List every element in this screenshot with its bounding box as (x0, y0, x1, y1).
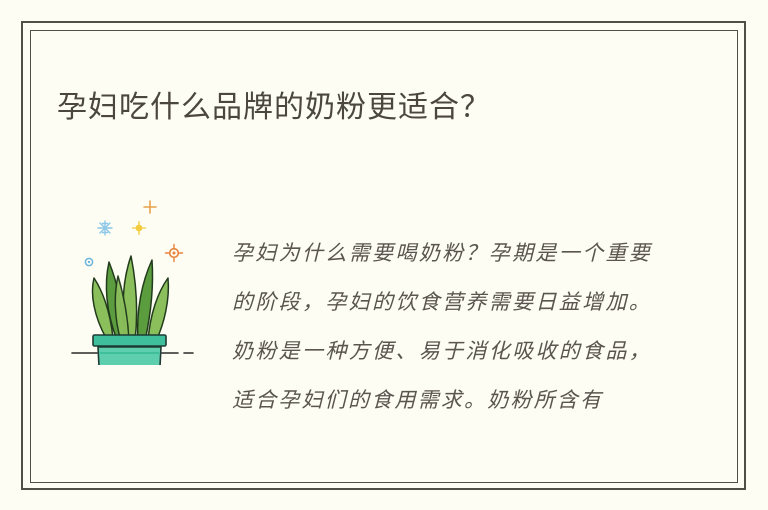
yellow-dot-sparkle (133, 222, 146, 235)
page-title: 孕妇吃什么品牌的奶粉更适合？ (57, 87, 697, 129)
snowflake-sparkle (98, 221, 112, 235)
orange-ring-sparkle (166, 245, 183, 262)
illustration-potted-plant (60, 190, 205, 365)
blue-ring-sparkle (85, 258, 92, 265)
article-card: 孕妇吃什么品牌的奶粉更适合？ (0, 0, 768, 510)
orange-plus-sparkle (144, 201, 156, 213)
plant-pot (93, 335, 166, 365)
plant-leaves (93, 256, 169, 341)
article-body-text: 孕妇为什么需要喝奶粉？孕期是一个重要的阶段，孕妇的饮食营养需要日益增加。奶粉是一… (232, 229, 652, 425)
